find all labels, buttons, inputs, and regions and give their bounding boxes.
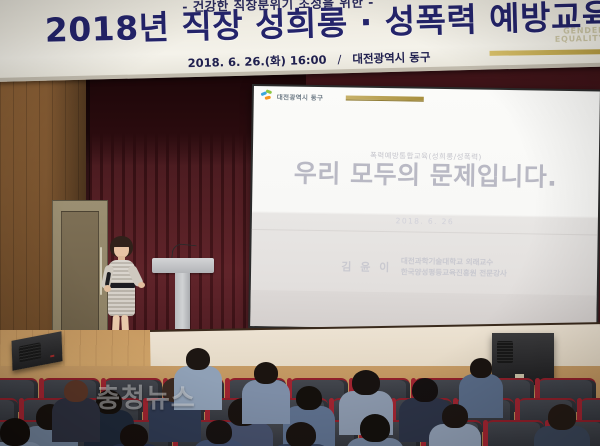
slide-divider [252,229,598,235]
audience-member-head [412,378,438,402]
seminar-photograph: 대전광역시 동구 폭력예방통합교육(성희롱/성폭력) 우리 모두의 문제입니다.… [0,0,600,446]
audience-member-head [548,404,576,430]
audience-member-torso [174,366,222,410]
audience-member-head [120,424,148,446]
slide-gold-rule-thin [346,99,424,101]
door-panel [61,211,99,331]
audience-member-head [0,418,30,446]
audience-member-torso [242,380,290,424]
lectern-top [152,258,214,273]
presenter-belt [108,283,135,288]
audience-member-head [64,380,88,402]
presenter-right-hand [138,282,145,288]
audience-member-head [286,422,316,446]
speaker-grill-icon [497,341,513,363]
speaker-led-icon [50,355,54,358]
slide-presenter-block: 김 윤 이 대전과학기술대학교 외래교수 한국양성평등교육진흥원 전문강사 [251,254,597,281]
banner-sponsor-logo: GENDER EQUALITY [554,27,600,45]
presenter-affiliation: 대전과학기술대학교 외래교수 한국양성평등교육진흥원 전문강사 [401,256,507,279]
presenter-affiliation-line-2: 한국양성평등교육진흥원 전문강사 [401,267,507,280]
banner-date: 2018. 6. 26.(화) 16:00 [188,53,327,71]
audience-member-head [352,370,380,395]
audience-member-head [186,348,210,370]
audience-member-head [470,358,492,378]
presenter-left-hand [104,285,111,292]
banner-separator: / [330,52,348,66]
speaker-grill-icon [19,342,42,362]
banner-title: 2018년 직장 성희롱 · 성폭력 예방교육 [44,0,600,47]
audience-member-torso [52,398,100,442]
slide-logo-label: 대전광역시 동구 [277,91,324,102]
audience-member-head [360,414,390,442]
audience-member-head [296,386,322,410]
daejeon-donggu-logo: 대전광역시 동구 [261,90,324,103]
banner-gold-rule [490,49,600,56]
slide-date: 2018. 6. 26 [252,214,598,228]
audience-member-head [206,420,232,444]
banner-sponsor-line-2: EQUALITY [555,35,600,45]
banner-host: 대전광역시 동구 [352,50,430,66]
presenter-name: 김 윤 이 [341,258,392,275]
projection-screen-frame: 대전광역시 동구 폭력예방통합교육(성희롱/성폭력) 우리 모두의 문제입니다.… [248,84,600,333]
presenter-fringe [111,238,132,247]
lectern-column [175,273,190,329]
slide-title: 우리 모두의 문제입니다. [252,159,598,193]
slide-header: 대전광역시 동구 [254,86,600,113]
audience-member-head [254,362,278,384]
pinwheel-icon [261,90,273,102]
projection-screen: 대전광역시 동구 폭력예방통합교육(성희롱/성폭력) 우리 모두의 문제입니다.… [250,86,600,331]
audience-member-head [442,404,468,428]
